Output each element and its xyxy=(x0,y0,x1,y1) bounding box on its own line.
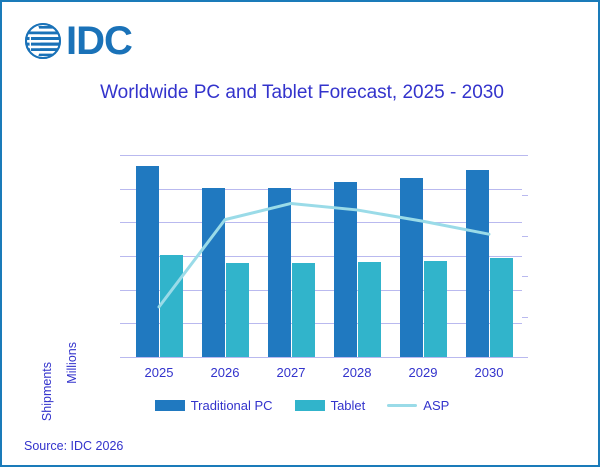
legend-line-swatch xyxy=(387,404,417,407)
chart-legend: Traditional PCTabletASP xyxy=(2,398,600,413)
x-axis-tick-label: 2028 xyxy=(324,365,390,380)
y-tick-mark-right xyxy=(522,236,528,237)
x-axis-tick-label: 2030 xyxy=(456,365,522,380)
x-axis-labels: 202520262027202820292030 xyxy=(126,365,522,387)
y-tick-mark-right xyxy=(522,317,528,318)
y-tick-mark-right xyxy=(522,357,528,358)
plot-area: 300250200150100500 $950$900$850$800$750$… xyxy=(126,155,522,357)
asp-line-series xyxy=(126,155,522,357)
chart-card: IDC Worldwide PC and Tablet Forecast, 20… xyxy=(0,0,600,467)
idc-logo-text: IDC xyxy=(66,20,132,62)
x-axis-tick-label: 2026 xyxy=(192,365,258,380)
y-tick-mark-right xyxy=(522,195,528,196)
x-axis-tick-label: 2025 xyxy=(126,365,192,380)
y-tick-mark-right xyxy=(522,276,528,277)
legend-label: Tablet xyxy=(331,398,366,413)
y-tick-mark-left xyxy=(120,357,126,358)
legend-item[interactable]: ASP xyxy=(387,398,449,413)
idc-globe-icon xyxy=(22,20,64,62)
x-axis-tick-label: 2027 xyxy=(258,365,324,380)
legend-item[interactable]: Tablet xyxy=(295,398,366,413)
source-note: Source: IDC 2026 xyxy=(24,439,123,453)
idc-logo: IDC xyxy=(22,20,132,62)
gridline xyxy=(126,357,522,358)
legend-label: ASP xyxy=(423,398,449,413)
y-axis-title-millions: Millions xyxy=(65,342,79,384)
chart-title: Worldwide PC and Tablet Forecast, 2025 -… xyxy=(62,80,542,105)
y-tick-mark-right xyxy=(522,155,528,156)
legend-color-swatch xyxy=(155,400,185,411)
asp-line-path xyxy=(159,203,489,306)
legend-color-swatch xyxy=(295,400,325,411)
plot-area-wrapper: Shipments Millions 300250200150100500 $9… xyxy=(2,147,600,372)
legend-item[interactable]: Traditional PC xyxy=(155,398,273,413)
legend-label: Traditional PC xyxy=(191,398,273,413)
x-axis-tick-label: 2029 xyxy=(390,365,456,380)
